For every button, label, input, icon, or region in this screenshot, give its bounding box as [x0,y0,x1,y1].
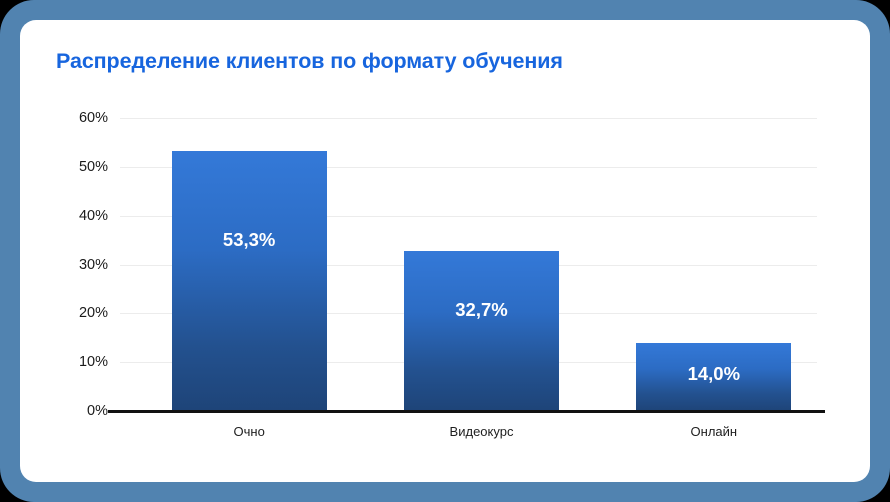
chart-card: Распределение клиентов по формату обучен… [20,20,870,482]
y-axis-tick-label: 0% [48,403,108,419]
x-axis-line [108,410,825,413]
y-axis-tick-labels: 0%10%20%30%40%50%60% [46,118,108,411]
x-axis-category-label: Онлайн [636,424,791,439]
chart-title: Распределение клиентов по формату обучен… [56,49,563,74]
bar[interactable]: 14,0% [636,343,791,411]
y-axis-tick-label: 30% [48,257,108,273]
y-axis-tick-label: 40% [48,208,108,224]
y-axis-tick-label: 10% [48,354,108,370]
bar[interactable]: 32,7% [404,251,559,411]
x-axis-category-label: Видеокурс [404,424,559,439]
bar[interactable]: 53,3% [172,151,327,411]
plot-area: 53,3%32,7%14,0% [120,118,817,411]
y-axis-tick-label: 20% [48,305,108,321]
chart-frame: Распределение клиентов по формату обучен… [0,0,890,502]
y-axis-tick-label: 50% [48,159,108,175]
bar-value-label: 53,3% [172,229,327,251]
bar-value-label: 32,7% [404,299,559,321]
gridline [120,118,817,119]
x-axis-category-label: Очно [172,424,327,439]
y-axis-tick-label: 60% [48,110,108,126]
bar-value-label: 14,0% [636,363,791,385]
